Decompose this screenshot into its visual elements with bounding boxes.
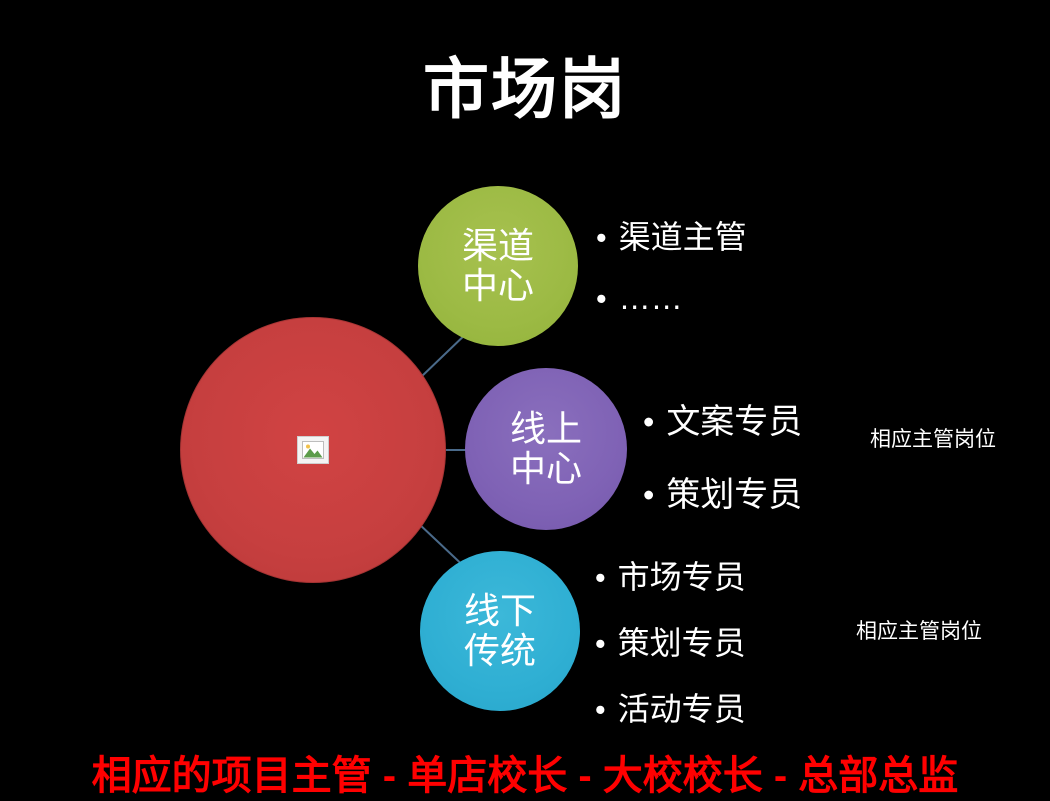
center-red-circle[interactable] <box>180 317 446 583</box>
bullet-icon: • <box>643 406 654 438</box>
note-online: 相应主管岗位 <box>870 423 996 453</box>
list-offline: • 市场专员 • 策划专员 • 活动专员 <box>595 552 746 750</box>
bullet-icon: • <box>596 223 607 253</box>
page-title: 市场岗 <box>0 52 1050 128</box>
slide-canvas: 市场岗 渠道 中心 线上 中心 线下 传统 • 渠道主管 • … <box>0 0 1050 794</box>
list-item-label: 活动专员 <box>618 684 746 730</box>
list-item: • 策划专员 <box>595 618 746 664</box>
node-offline[interactable]: 线下 传统 <box>420 551 580 711</box>
node-online-line1: 线上 <box>510 409 582 449</box>
list-item-label: 文案专员 <box>666 394 802 443</box>
bullet-icon: • <box>596 284 607 314</box>
list-online: • 文案专员 • 策划专员 <box>643 394 802 540</box>
list-item: • 策划专员 <box>643 467 802 516</box>
list-item-label: 渠道主管 <box>619 212 747 258</box>
bullet-icon: • <box>643 479 654 511</box>
node-offline-line2: 传统 <box>464 631 536 671</box>
list-item-label: 策划专员 <box>666 467 802 516</box>
node-channel-line2: 中心 <box>462 266 534 306</box>
list-item-label: …… <box>619 280 683 317</box>
list-item: • 活动专员 <box>595 684 746 730</box>
node-channel-line1: 渠道 <box>462 226 534 266</box>
bullet-icon: • <box>595 695 606 725</box>
list-item: • 渠道主管 <box>596 212 747 258</box>
node-offline-line1: 线下 <box>464 591 536 631</box>
list-item: • …… <box>596 280 747 317</box>
bullet-icon: • <box>595 563 606 593</box>
image-placeholder-icon <box>297 436 329 464</box>
list-item-label: 策划专员 <box>618 618 746 664</box>
note-offline: 相应主管岗位 <box>856 615 982 645</box>
node-online-line2: 中心 <box>510 449 582 489</box>
node-channel[interactable]: 渠道 中心 <box>418 186 578 346</box>
list-channel: • 渠道主管 • …… <box>596 212 747 339</box>
footer-text: 相应的项目主管 - 单店校长 - 大校校长 - 总部总监 <box>0 743 1050 801</box>
list-item: • 市场专员 <box>595 552 746 598</box>
bullet-icon: • <box>595 629 606 659</box>
list-item: • 文案专员 <box>643 394 802 443</box>
list-item-label: 市场专员 <box>618 552 746 598</box>
node-online[interactable]: 线上 中心 <box>465 368 627 530</box>
